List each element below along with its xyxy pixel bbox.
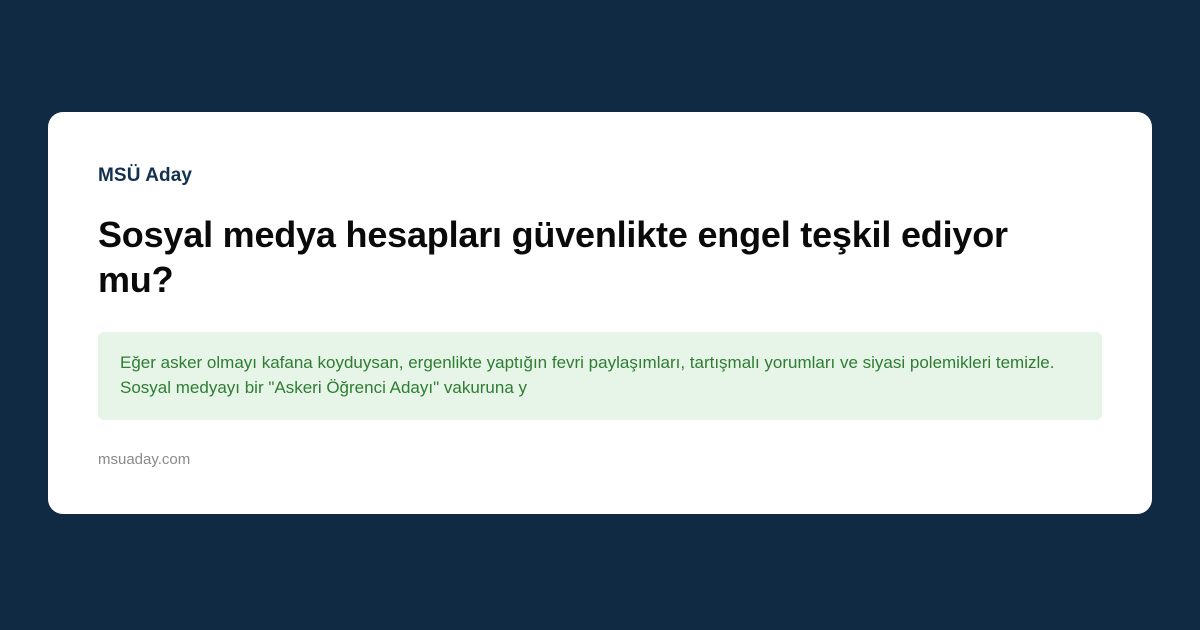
- og-image-canvas: MSÜ Aday Sosyal medya hesapları güvenlik…: [0, 0, 1200, 630]
- excerpt-box: Eğer asker olmayı kafana koyduysan, erge…: [98, 332, 1102, 420]
- preview-card: MSÜ Aday Sosyal medya hesapları güvenlik…: [48, 112, 1152, 514]
- excerpt-text: Eğer asker olmayı kafana koyduysan, erge…: [120, 350, 1080, 400]
- site-name: MSÜ Aday: [98, 164, 1102, 188]
- source-domain: msuaday.com: [98, 450, 1102, 470]
- page-title: Sosyal medya hesapları güvenlikte engel …: [98, 212, 1088, 302]
